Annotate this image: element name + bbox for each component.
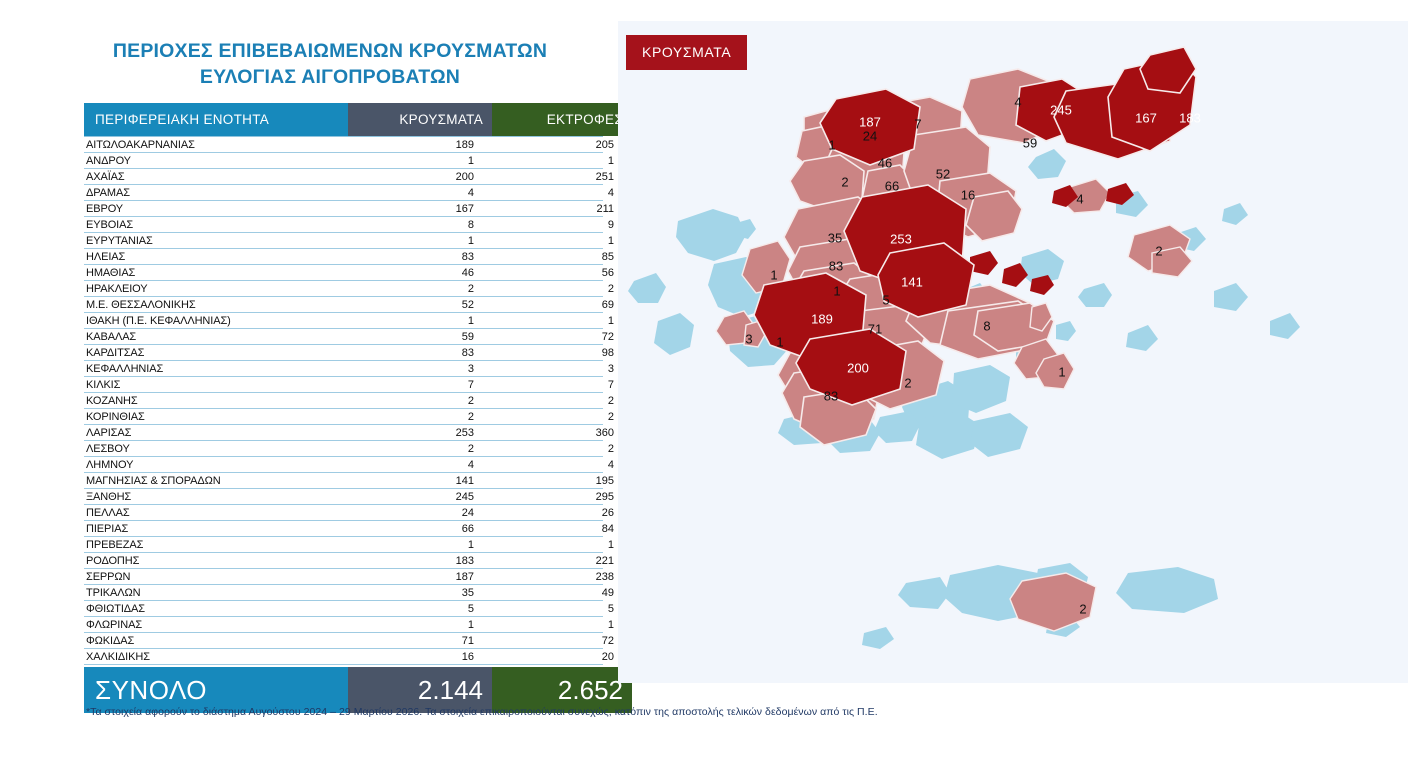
cell-cases: 71 [339,634,483,648]
cell-farms: 2 [483,442,623,456]
table-row: ΦΛΩΡΙΝΑΣ11 [84,617,603,633]
cell-cases: 183 [339,554,483,568]
table-row: ΕΒΡΟΥ167211 [84,201,603,217]
cell-cases: 4 [339,458,483,472]
cell-region: ΤΡΙΚΑΛΩΝ [84,586,339,600]
cell-cases: 52 [339,298,483,312]
cell-region: ΦΘΙΩΤΙΔΑΣ [84,602,339,616]
cell-farms: 84 [483,522,623,536]
cell-cases: 187 [339,570,483,584]
cell-region: ΠΡΕΒΕΖΑΣ [84,538,339,552]
cell-cases: 2 [339,410,483,424]
table-row: ΑΝΔΡΟΥ11 [84,153,603,169]
cell-region: ΙΘΑΚΗ (Π.Ε. ΚΕΦΑΛΛΗΝΙΑΣ) [84,314,339,328]
table-row: Μ.Ε. ΘΕΣΣΑΛΟΝΙΚΗΣ5269 [84,297,603,313]
cell-farms: 98 [483,346,623,360]
footnote-text: *Τα στοιχεία αφορούν το διάστημα Αυγούστ… [86,706,1186,718]
cell-farms: 69 [483,298,623,312]
table-row: ΡΟΔΟΠΗΣ183221 [84,553,603,569]
cell-region: ΞΑΝΘΗΣ [84,490,339,504]
page-title: ΠΕΡΙΟΧΕΣ ΕΠΙΒΕΒΑΙΩΜΕΝΩΝ ΚΡΟΥΣΜΑΤΩΝ ΕΥΛΟΓ… [60,38,600,90]
cell-farms: 20 [483,650,623,664]
cell-region: ΑΝΔΡΟΥ [84,154,339,168]
cell-farms: 2 [483,282,623,296]
cell-farms: 1 [483,154,623,168]
cell-region: ΕΥΡΥΤΑΝΙΑΣ [84,234,339,248]
cell-farms: 72 [483,634,623,648]
cell-farms: 56 [483,266,623,280]
table-row: ΣΕΡΡΩΝ187238 [84,569,603,585]
cell-cases: 3 [339,362,483,376]
cell-cases: 5 [339,602,483,616]
cell-farms: 205 [483,138,623,152]
cell-cases: 2 [339,442,483,456]
cell-region: ΦΩΚΙΔΑΣ [84,634,339,648]
cell-cases: 1 [339,234,483,248]
cell-farms: 1 [483,234,623,248]
cell-region: ΑΙΤΩΛΟΑΚΑΡΝΑΝΙΑΣ [84,138,339,152]
cell-farms: 360 [483,426,623,440]
table-row: ΛΕΣΒΟΥ22 [84,441,603,457]
cell-cases: 200 [339,170,483,184]
cell-cases: 24 [339,506,483,520]
cell-region: ΠΕΛΛΑΣ [84,506,339,520]
cell-cases: 16 [339,650,483,664]
cell-cases: 83 [339,346,483,360]
cell-region: ΛΕΣΒΟΥ [84,442,339,456]
cell-farms: 2 [483,394,623,408]
cell-cases: 1 [339,154,483,168]
cell-cases: 59 [339,330,483,344]
cell-region: ΚΙΛΚΙΣ [84,378,339,392]
table-header-row: ΠΕΡΙΦΕΡΕΙΑΚΗ ΕΝΟΤΗΤΑ ΚΡΟΥΣΜΑΤΑ ΕΚΤΡΟΦΕΣ [84,103,603,136]
cell-cases: 253 [339,426,483,440]
column-header-cases: ΚΡΟΥΣΜΑΤΑ [348,103,492,136]
cell-farms: 195 [483,474,623,488]
table-row: ΔΡΑΜΑΣ44 [84,185,603,201]
cell-region: ΕΒΡΟΥ [84,202,339,216]
cell-region: ΑΧΑΪΑΣ [84,170,339,184]
cell-region: ΚΑΡΔΙΤΣΑΣ [84,346,339,360]
cell-region: Μ.Ε. ΘΕΣΣΑΛΟΝΙΚΗΣ [84,298,339,312]
cell-farms: 9 [483,218,623,232]
column-header-farms: ΕΚΤΡΟΦΕΣ [492,103,632,136]
cell-farms: 221 [483,554,623,568]
cell-region: ΚΟΡΙΝΘΙΑΣ [84,410,339,424]
greece-choropleth-map [618,21,1408,683]
table-row: ΤΡΙΚΑΛΩΝ3549 [84,585,603,601]
cell-cases: 141 [339,474,483,488]
table-row: ΗΡΑΚΛΕΙΟΥ22 [84,281,603,297]
cell-cases: 46 [339,266,483,280]
cell-cases: 35 [339,586,483,600]
cell-region: ΗΛΕΙΑΣ [84,250,339,264]
table-row: ΕΥΒΟΙΑΣ89 [84,217,603,233]
map-legend-badge: ΚΡΟΥΣΜΑΤΑ [626,35,747,70]
cell-farms: 4 [483,186,623,200]
table-row: ΧΑΛΚΙΔΙΚΗΣ1620 [84,649,603,665]
cell-cases: 1 [339,314,483,328]
table-row: ΚΑΒΑΛΑΣ5972 [84,329,603,345]
cell-farms: 26 [483,506,623,520]
cell-farms: 1 [483,538,623,552]
table-row: ΗΛΕΙΑΣ8385 [84,249,603,265]
table-row: ΚΑΡΔΙΤΣΑΣ8398 [84,345,603,361]
cell-farms: 4 [483,458,623,472]
cell-cases: 83 [339,250,483,264]
column-header-region: ΠΕΡΙΦΕΡΕΙΑΚΗ ΕΝΟΤΗΤΑ [84,103,348,136]
cell-region: ΚΕΦΑΛΛΗΝΙΑΣ [84,362,339,376]
cell-farms: 295 [483,490,623,504]
table-row: ΦΩΚΙΔΑΣ7172 [84,633,603,649]
table-row: ΚΟΖΑΝΗΣ22 [84,393,603,409]
table-row: ΚΙΛΚΙΣ77 [84,377,603,393]
table-row: ΗΜΑΘΙΑΣ4656 [84,265,603,281]
cell-farms: 7 [483,378,623,392]
table-row: ΠΡΕΒΕΖΑΣ11 [84,537,603,553]
report-left-panel: ΠΕΡΙΟΧΕΣ ΕΠΙΒΕΒΑΙΩΜΕΝΩΝ ΚΡΟΥΣΜΑΤΩΝ ΕΥΛΟΓ… [0,0,615,775]
cell-farms: 85 [483,250,623,264]
cell-farms: 1 [483,314,623,328]
cases-table: ΠΕΡΙΦΕΡΕΙΑΚΗ ΕΝΟΤΗΤΑ ΚΡΟΥΣΜΑΤΑ ΕΚΤΡΟΦΕΣ … [84,103,603,713]
cell-region: ΧΑΛΚΙΔΙΚΗΣ [84,650,339,664]
cell-region: ΜΑΓΝΗΣΙΑΣ & ΣΠΟΡΑΔΩΝ [84,474,339,488]
cell-farms: 238 [483,570,623,584]
cell-region: ΣΕΡΡΩΝ [84,570,339,584]
table-row: ΑΧΑΪΑΣ200251 [84,169,603,185]
cell-cases: 1 [339,538,483,552]
cell-region: ΦΛΩΡΙΝΑΣ [84,618,339,632]
cell-farms: 251 [483,170,623,184]
cell-cases: 4 [339,186,483,200]
cell-farms: 2 [483,410,623,424]
cell-farms: 72 [483,330,623,344]
cell-region: ΔΡΑΜΑΣ [84,186,339,200]
table-row: ΚΟΡΙΝΘΙΑΣ22 [84,409,603,425]
cell-region: ΚΑΒΑΛΑΣ [84,330,339,344]
map-panel: ΚΡΟΥΣΜΑΤΑ [618,21,1408,683]
table-row: ΜΑΓΝΗΣΙΑΣ & ΣΠΟΡΑΔΩΝ141195 [84,473,603,489]
table-row: ΛΑΡΙΣΑΣ253360 [84,425,603,441]
table-row: ΞΑΝΘΗΣ245295 [84,489,603,505]
cell-cases: 189 [339,138,483,152]
table-row: ΙΘΑΚΗ (Π.Ε. ΚΕΦΑΛΛΗΝΙΑΣ)11 [84,313,603,329]
cell-cases: 7 [339,378,483,392]
table-row: ΠΙΕΡΙΑΣ6684 [84,521,603,537]
cell-cases: 245 [339,490,483,504]
table-row: ΕΥΡΥΤΑΝΙΑΣ11 [84,233,603,249]
cell-region: ΡΟΔΟΠΗΣ [84,554,339,568]
cell-farms: 5 [483,602,623,616]
page-title-line-2: ΕΥΛΟΓΙΑΣ ΑΙΓΟΠΡΟΒΑΤΩΝ [60,64,600,90]
cell-region: ΛΗΜΝΟΥ [84,458,339,472]
cell-region: ΚΟΖΑΝΗΣ [84,394,339,408]
cell-farms: 211 [483,202,623,216]
page-title-line-1: ΠΕΡΙΟΧΕΣ ΕΠΙΒΕΒΑΙΩΜΕΝΩΝ ΚΡΟΥΣΜΑΤΩΝ [60,38,600,64]
cell-farms: 1 [483,618,623,632]
cell-cases: 1 [339,618,483,632]
cell-region: ΠΙΕΡΙΑΣ [84,522,339,536]
table-row: ΛΗΜΝΟΥ44 [84,457,603,473]
cell-cases: 167 [339,202,483,216]
table-row: ΑΙΤΩΛΟΑΚΑΡΝΑΝΙΑΣ189205 [84,137,603,153]
cell-region: ΛΑΡΙΣΑΣ [84,426,339,440]
cell-farms: 3 [483,362,623,376]
table-row: ΠΕΛΛΑΣ2426 [84,505,603,521]
cell-cases: 2 [339,282,483,296]
table-body: ΑΙΤΩΛΟΑΚΑΡΝΑΝΙΑΣ189205ΑΝΔΡΟΥ11ΑΧΑΪΑΣ2002… [84,136,603,665]
cell-cases: 2 [339,394,483,408]
table-row: ΚΕΦΑΛΛΗΝΙΑΣ33 [84,361,603,377]
cell-region: ΗΡΑΚΛΕΙΟΥ [84,282,339,296]
cell-region: ΕΥΒΟΙΑΣ [84,218,339,232]
cell-cases: 8 [339,218,483,232]
cell-region: ΗΜΑΘΙΑΣ [84,266,339,280]
cell-cases: 66 [339,522,483,536]
cell-farms: 49 [483,586,623,600]
table-row: ΦΘΙΩΤΙΔΑΣ55 [84,601,603,617]
